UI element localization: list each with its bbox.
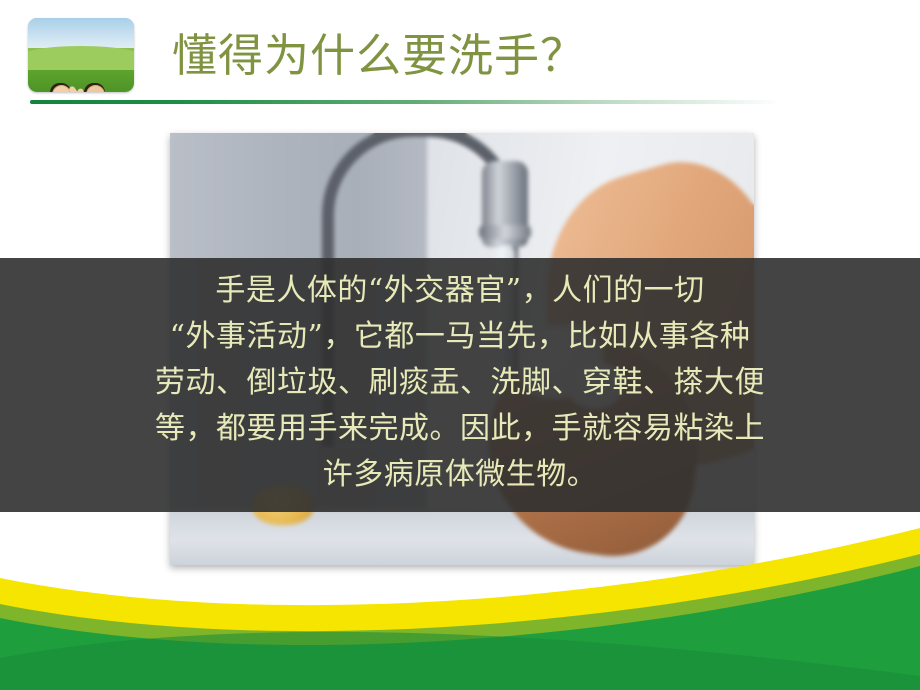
presentation-slide: 懂得为什么要洗手？ 手是人体的“外交器官”，人们的一切 “外事活动”，它都一马当…: [0, 0, 920, 690]
title-divider-rule: [30, 100, 782, 104]
caption-line-5: 许多病原体微生物。: [52, 452, 868, 498]
bottom-decorative-swoosh: [0, 500, 920, 690]
caption-line-2: “外事活动”，它都一马当先，比如从事各种: [52, 314, 868, 360]
caption-text-block: 手是人体的“外交器官”，人们的一切 “外事活动”，它都一马当先，比如从事各种 劳…: [0, 268, 920, 498]
caption-line-4: 等，都要用手来完成。因此，手就容易粘染上: [52, 406, 868, 452]
caption-line-3: 劳动、倒垃圾、刷痰盂、洗脚、穿鞋、搽大便: [52, 360, 868, 406]
slide-title: 懂得为什么要洗手？: [172, 28, 586, 84]
header-thumbnail-image: [28, 18, 134, 92]
thumbnail-hill: [28, 46, 134, 70]
caption-line-1: 手是人体的“外交器官”，人们的一切: [52, 268, 868, 314]
swoosh-graphic: [0, 500, 920, 690]
